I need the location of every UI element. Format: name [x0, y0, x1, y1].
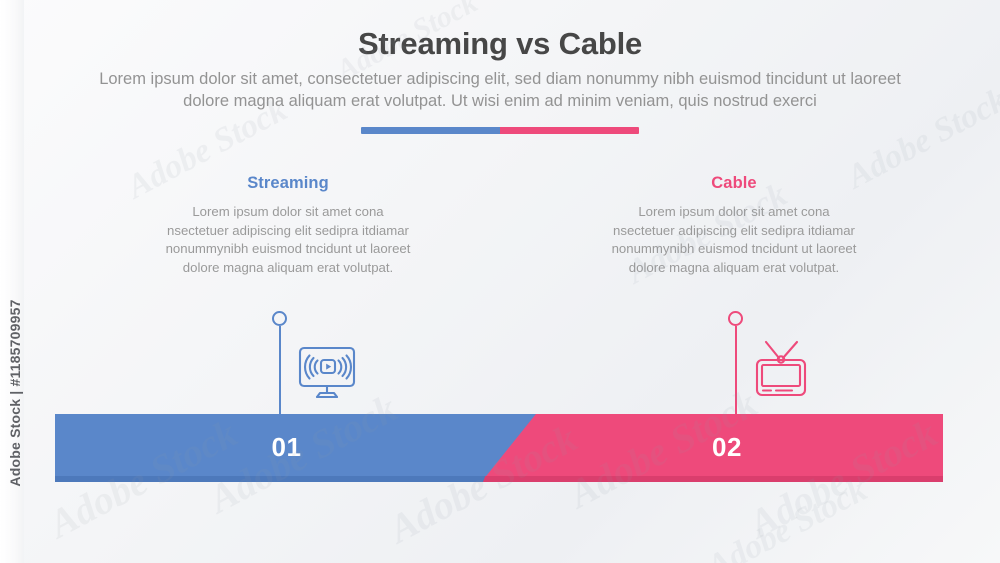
pin-dot-icon — [272, 311, 287, 326]
column-cable: Cable Lorem ipsum dolor sit amet cona ns… — [594, 174, 874, 277]
pin-connector-cable — [728, 311, 743, 430]
retro-tv-icon — [752, 338, 810, 405]
page-title: Streaming vs Cable — [0, 26, 1000, 62]
column-body-streaming: Lorem ipsum dolor sit amet cona nsectetu… — [148, 203, 428, 277]
pin-line — [279, 326, 281, 430]
page-subtitle: Lorem ipsum dolor sit amet, consectetuer… — [80, 68, 920, 112]
column-body-cable: Lorem ipsum dolor sit amet cona nsectetu… — [594, 203, 874, 277]
ribbon-streaming[interactable]: 01 — [55, 414, 542, 480]
infographic-canvas: Adobe Stock Adobe Stock Adobe Stock Adob… — [0, 0, 1000, 563]
ribbon-cable[interactable]: 02 — [483, 414, 943, 480]
number-ribbon-group: 01 02 — [0, 414, 1000, 486]
divider-right-segment — [500, 127, 639, 134]
column-streaming: Streaming Lorem ipsum dolor sit amet con… — [148, 174, 428, 277]
column-heading-streaming: Streaming — [148, 174, 428, 193]
ribbon-number-streaming: 01 — [272, 432, 302, 463]
divider-left-segment — [361, 127, 500, 134]
ribbon-right-shadow — [483, 476, 943, 482]
pin-dot-icon — [728, 311, 743, 326]
pin-connector-streaming — [272, 311, 287, 430]
ribbon-number-cable: 02 — [712, 432, 742, 463]
ribbon-left-shadow — [55, 476, 542, 482]
watermark-credit: Adobe Stock | #1185709957 — [7, 223, 23, 563]
pin-line — [735, 326, 737, 430]
accent-divider — [361, 127, 639, 134]
streaming-monitor-icon — [296, 345, 358, 408]
column-heading-cable: Cable — [594, 174, 874, 193]
